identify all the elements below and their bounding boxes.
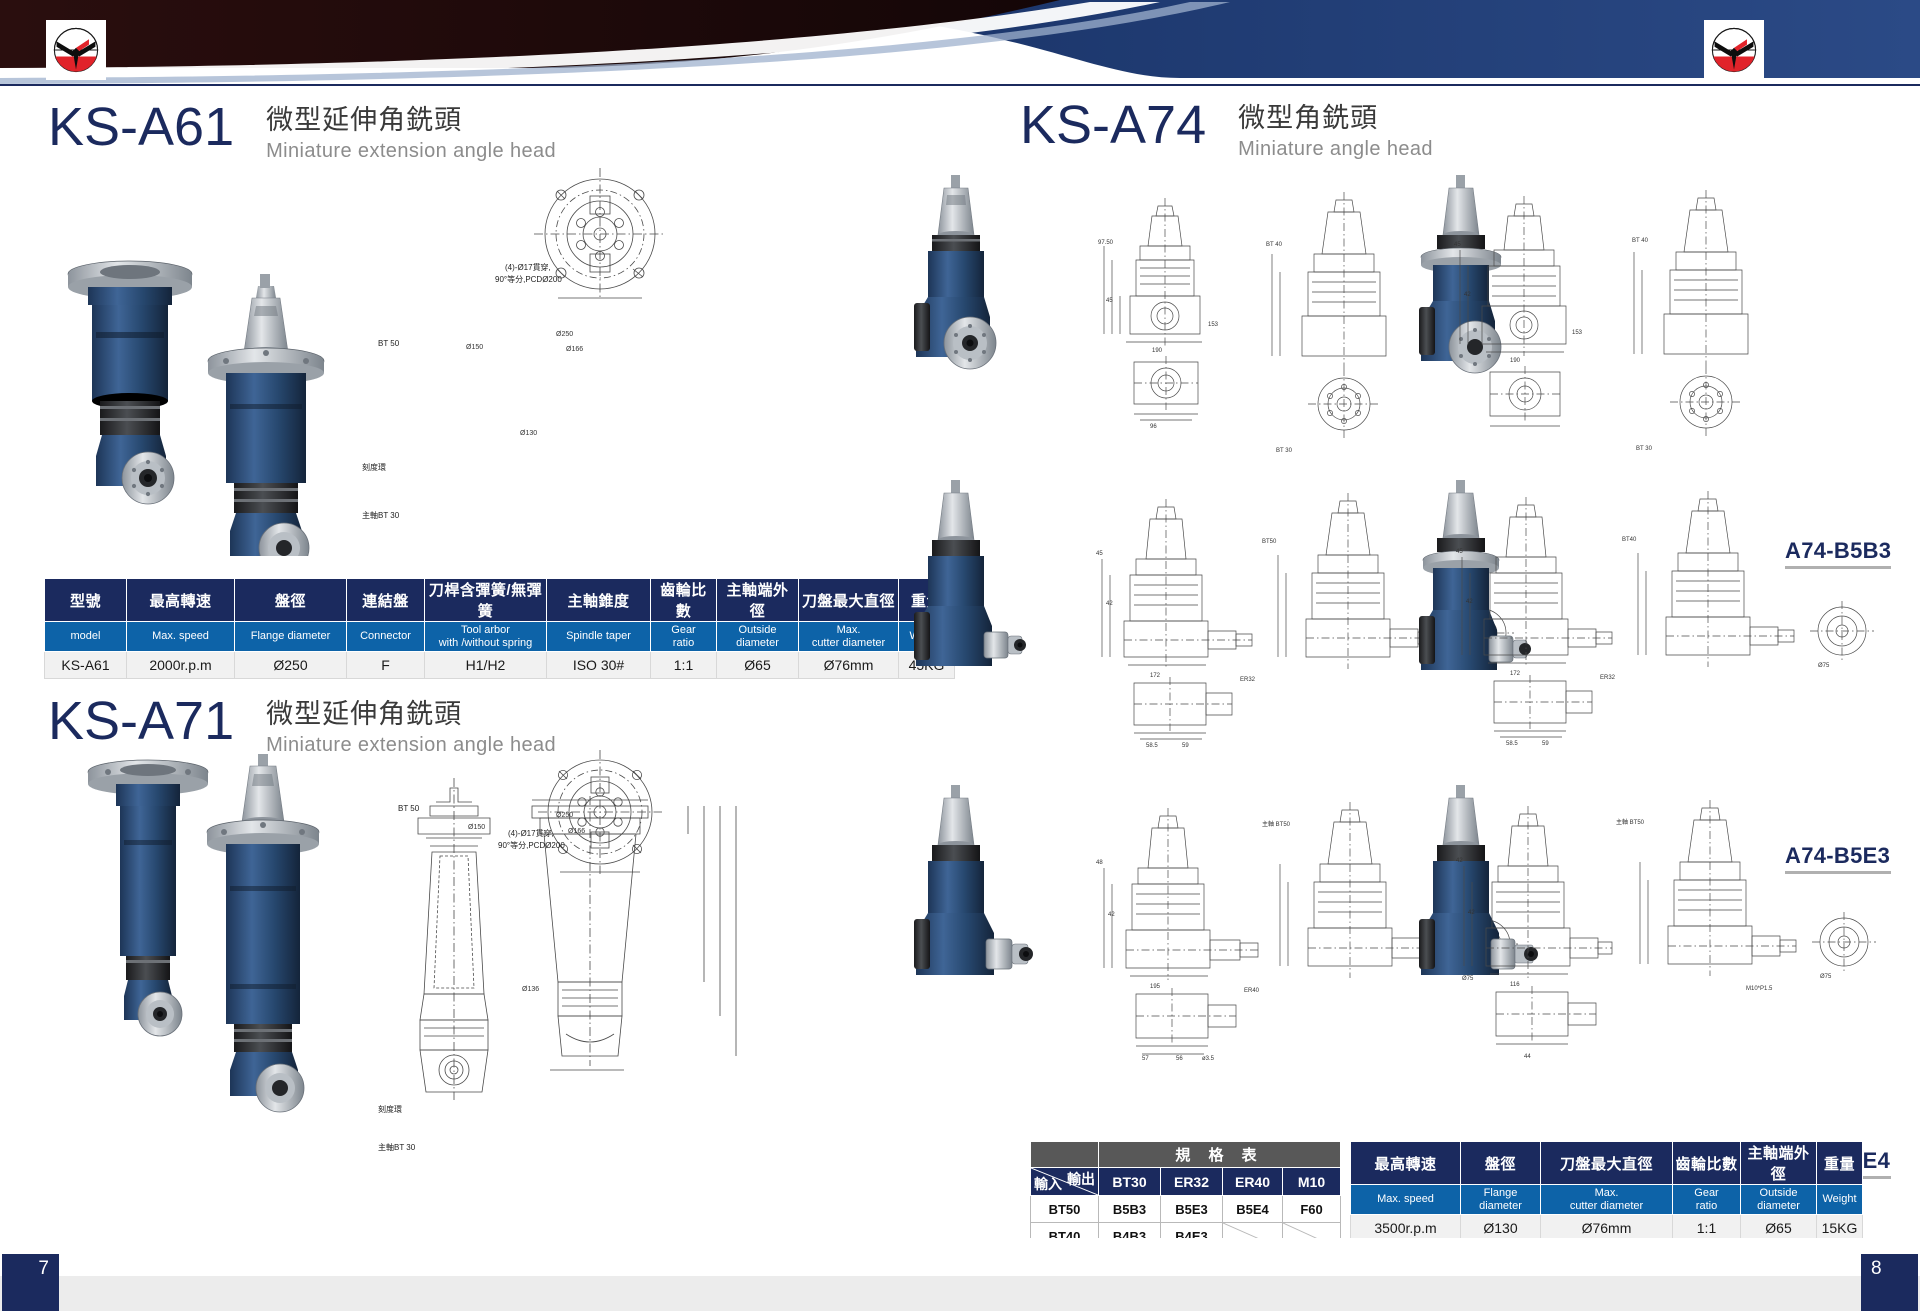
page-header-banner: [0, 0, 1920, 86]
th-cn-outside-diameter: 主軸端外徑: [717, 579, 799, 622]
variant-cad-a74-b4e3: 4542 17258.5 59ER32 BT40Ø75: [1450, 481, 1920, 761]
th-en-gear-ratio: Gear ratio: [1673, 1185, 1741, 1215]
td-gear-ratio: 1:1: [651, 652, 717, 679]
matrix-cell-bt50-er32: B5E3: [1161, 1196, 1223, 1223]
company-logo-right: [1704, 20, 1764, 80]
svg-text:97.50: 97.50: [1098, 240, 1114, 246]
product-illustration-ks-a71: [30, 744, 930, 1164]
td-max-speed: 2000r.p.m: [127, 652, 235, 679]
matrix-row-bt50: BT50 B5B3 B5E3 B5E4 F60: [1031, 1196, 1341, 1223]
th-cn-tool-arbor: 刀桿含彈簧/無彈簧: [425, 579, 547, 622]
matrix-col-bt30: BT30: [1099, 1168, 1161, 1196]
svg-text:96: 96: [1150, 424, 1157, 430]
page-number-left: 7: [2, 1254, 59, 1311]
drawing-note-hole-spec-2: 90°等分,PCDØ200: [498, 840, 565, 851]
th-en-max-speed: Max. speed: [1351, 1185, 1461, 1215]
th-en-flange-diameter: Flange diameter: [235, 622, 347, 652]
product-name-en: Miniature angle head: [1238, 136, 1433, 162]
svg-text:M10*P1.5: M10*P1.5: [1746, 986, 1773, 992]
svg-text:42: 42: [1106, 601, 1113, 607]
th-en-outside-diameter: Outside diameter: [717, 622, 799, 652]
svg-text:Ø75: Ø75: [1818, 663, 1830, 669]
product-title-ks-a74: KS-A74 微型角銑頭 Miniature angle head: [1020, 98, 1433, 162]
photo-unit-2: [208, 274, 324, 556]
product-code: KS-A71: [48, 694, 234, 748]
photo-unit-1: [68, 261, 192, 504]
th-cn-weight: 重量: [1817, 1142, 1863, 1185]
th-cn-max-speed: 最高轉速: [1351, 1142, 1461, 1185]
td-connector: F: [347, 652, 425, 679]
left-page: KS-A61 微型延伸角銑頭 Miniature extension angle…: [0, 86, 960, 1238]
company-logo-left: [46, 20, 106, 80]
right-page: KS-A74 微型角銑頭 Miniature angle head: [960, 86, 1920, 1238]
td-outside-diameter: Ø65: [717, 652, 799, 679]
th-en-weight: Weight: [1817, 1185, 1863, 1215]
matrix-col-m10: M10: [1283, 1168, 1341, 1196]
th-cn-spindle-taper: 主軸錐度: [547, 579, 651, 622]
table-header-row-en: Max. speed Flange diameter Max. cutter d…: [1351, 1185, 1863, 1215]
matrix-col-er32: ER32: [1161, 1168, 1223, 1196]
td-tool-arbor: H1/H2: [425, 652, 547, 679]
svg-text:42: 42: [1466, 599, 1473, 605]
product-name-cn: 微型延伸角銑頭: [266, 698, 556, 732]
company-logo-icon: [49, 23, 103, 77]
footer-grey-band: [0, 1276, 1920, 1311]
drawing-note-scale-ring: 刻度環: [378, 1104, 402, 1115]
svg-text:195: 195: [1150, 984, 1161, 990]
matrix-corner-output: 輸出: [1067, 1169, 1095, 1189]
svg-text:45: 45: [1106, 298, 1113, 304]
variant-cad-a74-b4b3: 4542 190BT 40 BT 30153: [1450, 176, 1920, 456]
svg-text:56: 56: [1176, 1056, 1183, 1062]
svg-text:172: 172: [1510, 671, 1521, 677]
svg-text:59: 59: [1542, 741, 1549, 747]
matrix-header-row: 輸出 輸入 BT30 ER32 ER40 M10: [1031, 1168, 1341, 1196]
matrix-corner-input: 輸入: [1034, 1174, 1062, 1194]
svg-text:45: 45: [1096, 551, 1103, 557]
th-cn-gear-ratio: 齒輪比數: [1673, 1142, 1741, 1185]
drawing-note-bt50: BT 50: [398, 804, 419, 813]
dim-flange-250: Ø250: [556, 812, 573, 819]
svg-text:116: 116: [1510, 982, 1520, 988]
matrix-corner-cell: 輸出 輸入: [1031, 1168, 1099, 1196]
drawing-note-hole-spec-2: 90°等分,PCDØ200: [495, 274, 562, 285]
table-header-row-cn: 最高轉速 盤徑 刀盤最大直徑 齒輪比數 主軸端外徑 重量: [1351, 1142, 1863, 1185]
photo-unit-1: [88, 760, 208, 1036]
product-name-cn: 微型角銑頭: [1238, 102, 1433, 136]
th-en-outside-diameter: Outside diameter: [1741, 1185, 1817, 1215]
dim-166: Ø166: [568, 828, 585, 835]
svg-text:172: 172: [1150, 673, 1161, 679]
svg-text:42: 42: [1464, 292, 1471, 298]
svg-text:45: 45: [1456, 549, 1463, 555]
company-logo-icon: [1707, 23, 1761, 77]
product-code: KS-A74: [1020, 98, 1206, 152]
svg-text:BT40: BT40: [1622, 537, 1637, 543]
svg-text:BT 40: BT 40: [1632, 238, 1649, 244]
drawing-note-spindle-bt30: 主軸BT 30: [362, 510, 399, 521]
td-flange-diameter: Ø250: [235, 652, 347, 679]
matrix-cell-bt50-m10: F60: [1283, 1196, 1341, 1223]
footer-white-band: [0, 1238, 1920, 1276]
spec-table-ks-a61: 型號 最高轉速 盤徑 連結盤 刀桿含彈簧/無彈簧 主軸錐度 齒輪比數 主軸端外徑…: [44, 578, 955, 679]
svg-text:42: 42: [1456, 858, 1463, 864]
svg-text:59: 59: [1182, 743, 1189, 749]
svg-text:主軸 BT50: 主軸 BT50: [1616, 818, 1645, 826]
th-en-max-cutter-diameter: Max. cutter diameter: [1541, 1185, 1673, 1215]
td-spindle-taper: ISO 30#: [547, 652, 651, 679]
th-cn-flange-diameter: 盤徑: [1461, 1142, 1541, 1185]
svg-text:45: 45: [1454, 242, 1461, 248]
th-cn-outside-diameter: 主軸端外徑: [1741, 1142, 1817, 1185]
variant-cad-a74-f60: 4242 11644 主軸 BT50 M10*P1.5 Ø75: [1450, 786, 1920, 1076]
spec-table-ks-a74: 最高轉速 盤徑 刀盤最大直徑 齒輪比數 主軸端外徑 重量 Max. speed …: [1350, 1141, 1863, 1242]
matrix-col-er40: ER40: [1223, 1168, 1283, 1196]
matrix-title-row: 規 格 表: [1031, 1142, 1341, 1168]
th-cn-max-speed: 最高轉速: [127, 579, 235, 622]
th-cn-gear-ratio: 齒輪比數: [651, 579, 717, 622]
th-en-model: model: [45, 622, 127, 652]
svg-text:Ø75: Ø75: [1820, 974, 1832, 980]
svg-text:58.5: 58.5: [1146, 743, 1158, 749]
dim-166: Ø166: [566, 346, 583, 353]
dim-150: Ø150: [468, 824, 485, 831]
product-name-cn: 微型延伸角銑頭: [266, 104, 556, 138]
th-en-connector: Connector: [347, 622, 425, 652]
drawing-note-spindle-bt30: 主軸BT 30: [378, 1142, 415, 1153]
svg-text:153: 153: [1572, 330, 1583, 336]
table-row: KS-A61 2000r.p.m Ø250 F H1/H2 ISO 30# 1:…: [45, 652, 955, 679]
svg-text:48: 48: [1096, 860, 1103, 866]
matrix-cell-bt50-bt30: B5B3: [1099, 1196, 1161, 1223]
svg-text:42: 42: [1468, 910, 1475, 916]
svg-text:190: 190: [1510, 358, 1521, 364]
drawing-note-scale-ring: 刻度環: [362, 462, 386, 473]
drawing-note-hole-spec-1: (4)-Ø17貫穿,: [505, 262, 551, 273]
th-cn-max-cutter-diameter: 刀盤最大直徑: [1541, 1142, 1673, 1185]
product-title-ks-a61: KS-A61 微型延伸角銑頭 Miniature extension angle…: [48, 100, 556, 164]
cad-elevation-view: [532, 796, 736, 1070]
table-header-row-cn: 型號 最高轉速 盤徑 連結盤 刀桿含彈簧/無彈簧 主軸錐度 齒輪比數 主軸端外徑…: [45, 579, 955, 622]
svg-text:BT 30: BT 30: [1636, 446, 1653, 452]
dim-136: Ø136: [522, 986, 539, 993]
th-en-max-speed: Max. speed: [127, 622, 235, 652]
svg-text:ER32: ER32: [1600, 675, 1616, 681]
matrix-row-header-bt50: BT50: [1031, 1196, 1099, 1223]
matrix-title: 規 格 表: [1099, 1142, 1341, 1168]
dim-flange-250: Ø250: [556, 331, 573, 338]
table-header-row-en: model Max. speed Flange diameter Connect…: [45, 622, 955, 652]
selection-matrix-table: 規 格 表 輸出 輸入 BT30 ER32 ER40 M10 BT50 B5B3…: [1030, 1141, 1341, 1250]
dim-150: Ø150: [466, 344, 483, 351]
th-en-spindle-taper: Spindle taper: [547, 622, 651, 652]
matrix-cell-bt50-er40: B5E4: [1223, 1196, 1283, 1223]
th-en-tool-arbor: Tool arbor with /without spring: [425, 622, 547, 652]
svg-text:42: 42: [1108, 912, 1115, 918]
th-en-flange-diameter: Flange diameter: [1461, 1185, 1541, 1215]
photo-unit-2: [207, 754, 319, 1112]
product-code: KS-A61: [48, 100, 234, 154]
th-cn-model: 型號: [45, 579, 127, 622]
product-illustration-ks-a61: [30, 156, 930, 556]
svg-text:44: 44: [1524, 1054, 1531, 1060]
drawing-note-bt50: BT 50: [378, 339, 399, 348]
drawing-note-hole-spec-1: (4)-Ø17貫穿,: [508, 828, 554, 839]
svg-text:57: 57: [1142, 1056, 1149, 1062]
svg-text:190: 190: [1152, 348, 1163, 354]
th-cn-connector: 連結盤: [347, 579, 425, 622]
page-number-right: 8: [1861, 1254, 1918, 1311]
dim-130: Ø130: [520, 430, 537, 437]
th-cn-flange-diameter: 盤徑: [235, 579, 347, 622]
matrix-title-spacer: [1031, 1142, 1099, 1168]
td-model: KS-A61: [45, 652, 127, 679]
svg-text:58.5: 58.5: [1506, 741, 1518, 747]
th-en-gear-ratio: Gear ratio: [651, 622, 717, 652]
